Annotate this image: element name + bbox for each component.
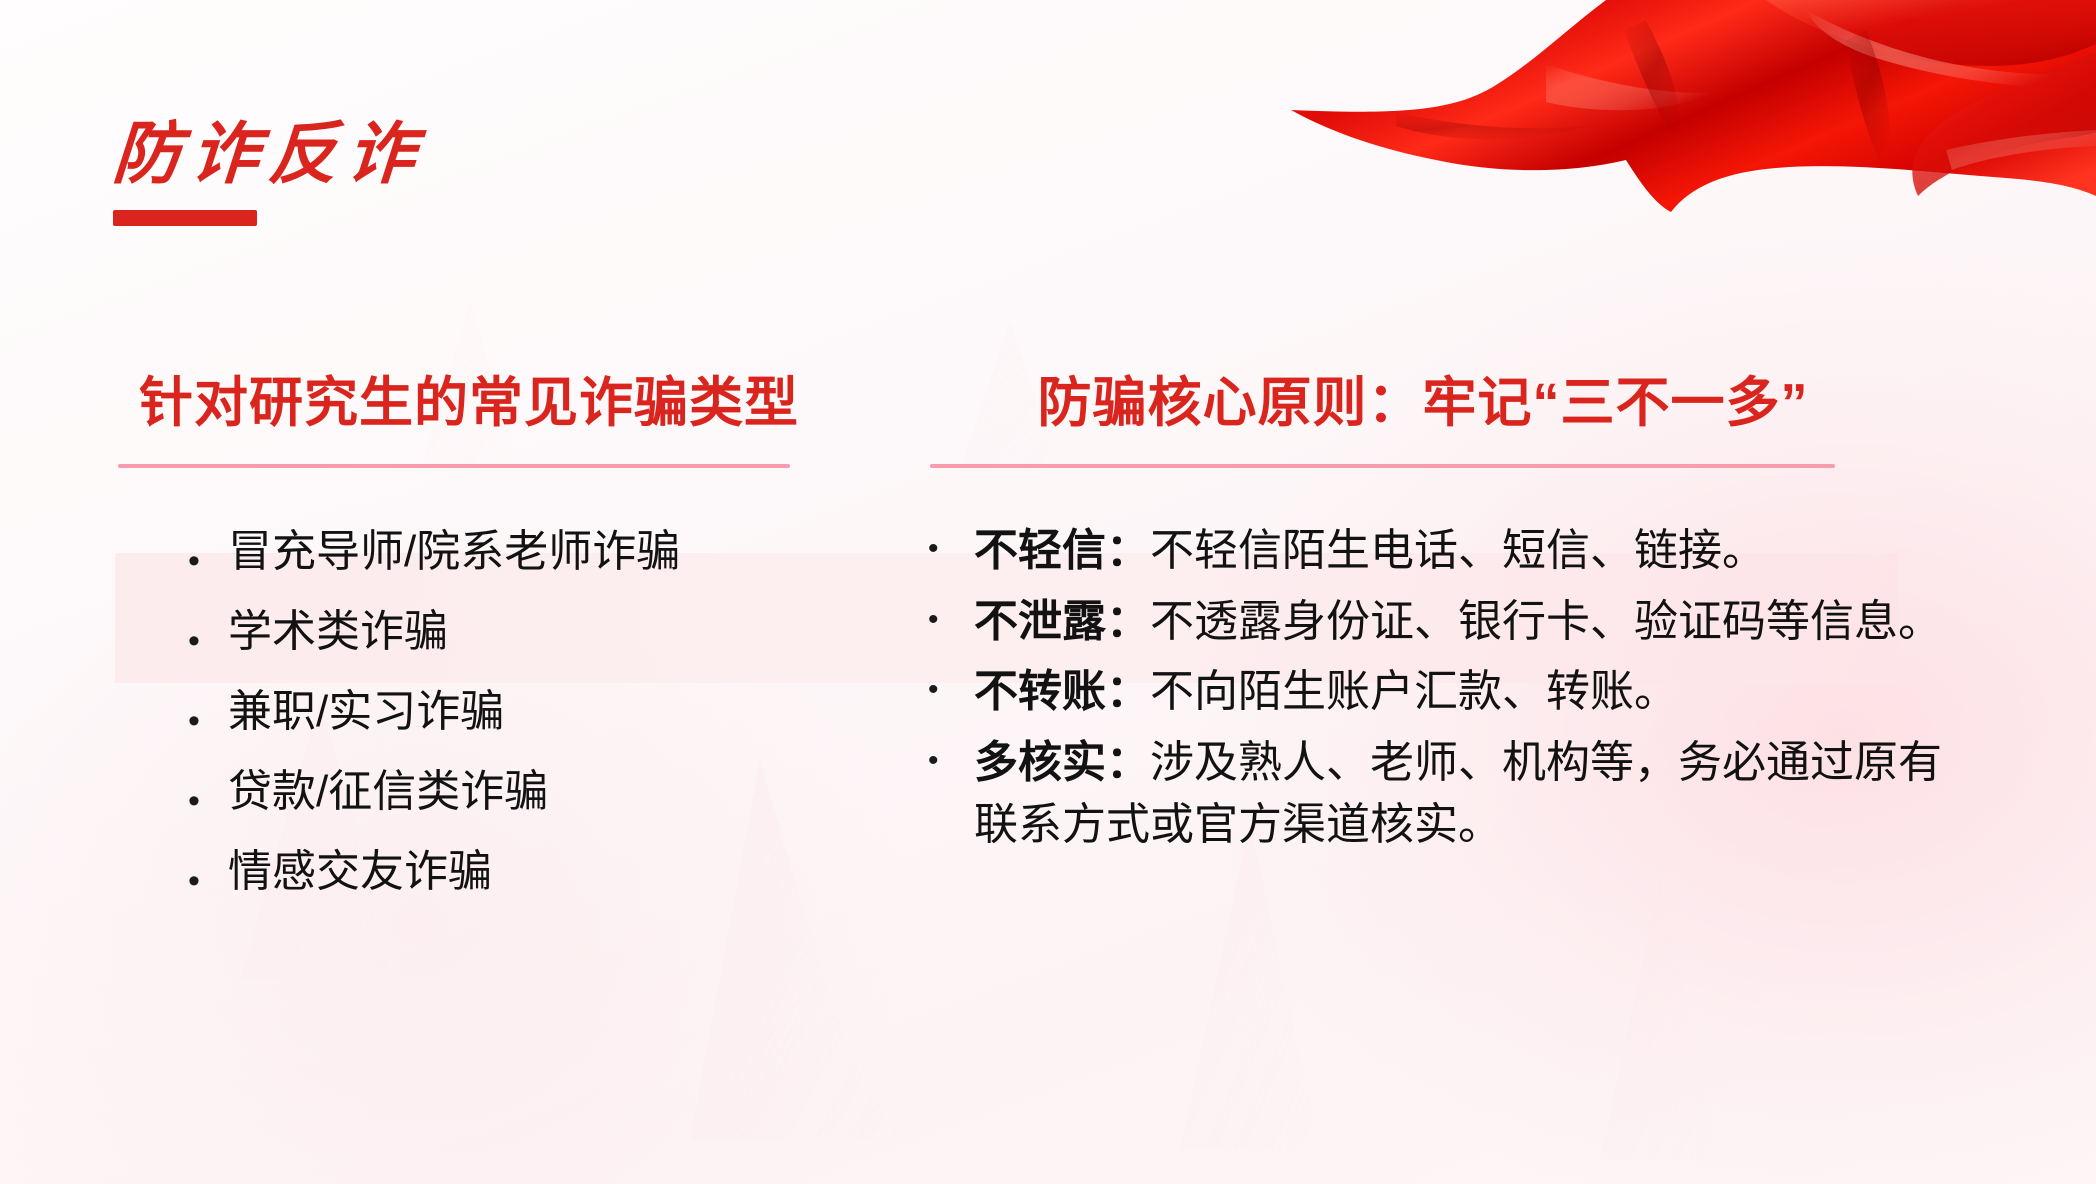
right-column-heading: 防骗核心原则：牢记“三不一多” [900,372,1946,434]
principle-lead: 不转账 [974,667,1106,716]
principle-text: 多核实：涉及熟人、老师、机构等，务必通过原有联系方式或官方渠道核实。 [974,732,1946,857]
bullet-dot-icon: • [188,608,228,658]
principle-separator: ： [1106,597,1150,646]
principle-lead: 不泄露 [974,597,1106,646]
title-underline-bar [113,210,257,226]
bullet-dot-icon: • [928,661,974,705]
list-item: • 不轻信：不轻信陌生电话、短信、链接。 [928,520,1946,582]
list-item-label: 贷款/征信类诈骗 [228,768,870,816]
list-item-label: 兼职/实习诈骗 [228,688,870,736]
principle-separator: ： [1106,738,1150,787]
list-item: • 情感交友诈骗 [188,848,870,898]
list-item: • 不转账：不向陌生账户汇款、转账。 [928,661,1946,723]
right-column: 防骗核心原则：牢记“三不一多” • 不轻信：不轻信陌生电话、短信、链接。 • 不… [900,372,2096,928]
bullet-dot-icon: • [188,768,228,818]
bullet-dot-icon: • [928,520,974,564]
list-item-label: 情感交友诈骗 [228,848,870,896]
bullet-dot-icon: • [188,528,228,578]
content-columns: 针对研究生的常见诈骗类型 • 冒充导师/院系老师诈骗 • 学术类诈骗 • 兼职/… [0,372,2096,928]
list-item: • 多核实：涉及熟人、老师、机构等，务必通过原有联系方式或官方渠道核实。 [928,732,1946,857]
principle-body: 不透露身份证、银行卡、验证码等信息。 [1150,597,1942,646]
left-column: 针对研究生的常见诈骗类型 • 冒充导师/院系老师诈骗 • 学术类诈骗 • 兼职/… [0,372,900,928]
principle-separator: ： [1106,526,1150,575]
bullet-dot-icon: • [188,848,228,898]
list-item: • 冒充导师/院系老师诈骗 [188,528,870,578]
right-column-divider [930,464,1835,468]
fraud-type-list: • 冒充导师/院系老师诈骗 • 学术类诈骗 • 兼职/实习诈骗 • 贷款/征信类… [108,528,870,898]
list-item: • 贷款/征信类诈骗 [188,768,870,818]
page-title: 防诈反诈 [111,120,676,188]
bullet-dot-icon: • [928,732,974,776]
slide-root: 防诈反诈 针对研究生的常见诈骗类型 • 冒充导师/院系老师诈骗 • 学术类诈骗 … [0,0,2096,1184]
list-item: • 学术类诈骗 [188,608,870,658]
bullet-dot-icon: • [188,688,228,738]
left-column-divider [118,464,790,468]
title-block: 防诈反诈 [113,120,673,226]
list-item-label: 学术类诈骗 [228,608,870,656]
principle-list: • 不轻信：不轻信陌生电话、短信、链接。 • 不泄露：不透露身份证、银行卡、验证… [900,520,1946,856]
list-item: • 兼职/实习诈骗 [188,688,870,738]
principle-lead: 不轻信 [974,526,1106,575]
list-item: • 不泄露：不透露身份证、银行卡、验证码等信息。 [928,591,1946,653]
left-column-heading: 针对研究生的常见诈骗类型 [108,372,870,434]
principle-text: 不泄露：不透露身份证、银行卡、验证码等信息。 [974,591,1946,653]
principle-text: 不轻信：不轻信陌生电话、短信、链接。 [974,520,1946,582]
principle-body: 不轻信陌生电话、短信、链接。 [1150,526,1766,575]
bullet-dot-icon: • [928,591,974,635]
list-item-label: 冒充导师/院系老师诈骗 [228,528,870,576]
principle-body: 不向陌生账户汇款、转账。 [1150,667,1678,716]
principle-lead: 多核实 [974,738,1106,787]
principle-text: 不转账：不向陌生账户汇款、转账。 [974,661,1946,723]
principle-separator: ： [1106,667,1150,716]
